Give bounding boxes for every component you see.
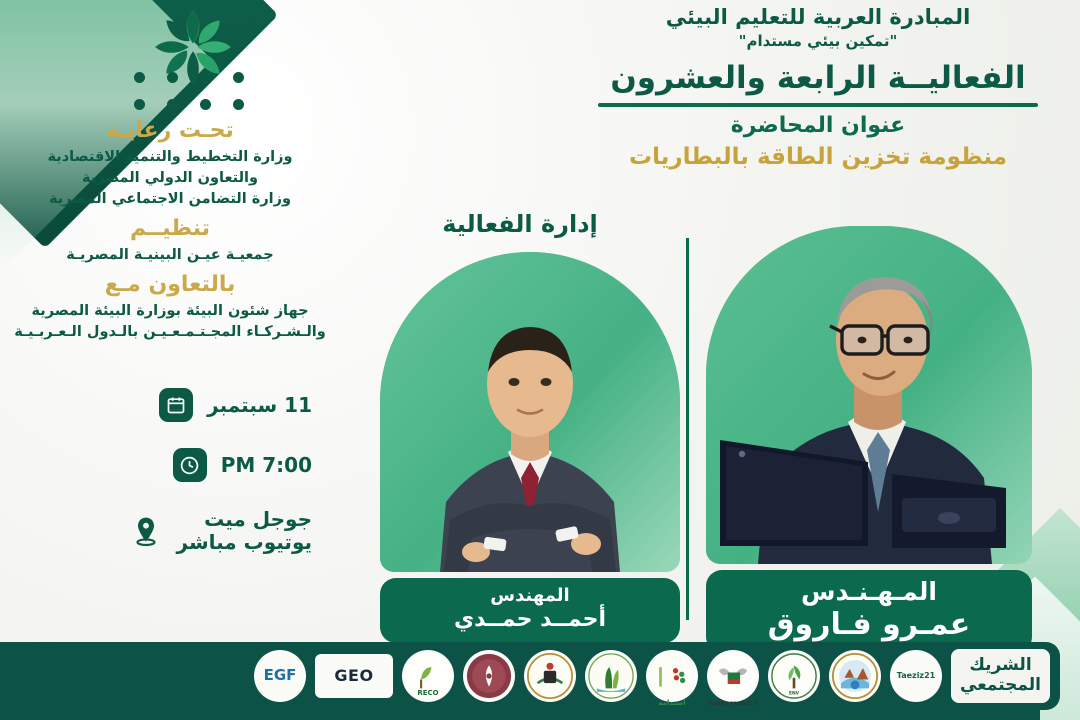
patronage-label: تحـت رعايـة	[0, 118, 340, 143]
speaker-left-title: المهندس	[390, 586, 670, 607]
partner-strip-base	[0, 710, 1040, 720]
taeziz21-logo[interactable]: Taeziz21	[890, 650, 942, 702]
cooperation-label: بالتعاون مـع	[0, 272, 340, 297]
speakers-divider	[686, 238, 689, 620]
sponsors-column: تحـت رعايـة وزارة التخطيط والتنمية الاقت…	[0, 112, 340, 343]
estidama-logo[interactable]: استدامة	[646, 650, 698, 702]
event-poster: المبادرة العربية للتعليم البيئي "تمكين ب…	[0, 0, 1080, 720]
speaker-nameplate-left: المهندس أحمــد حمــدي	[380, 578, 680, 643]
event-number-title: الفعاليــة الرابعة والعشرون	[568, 60, 1068, 96]
environment-badge-logo[interactable]	[829, 650, 881, 702]
location-line-2: يوتيوب مباشر	[177, 530, 313, 554]
geo-logo-text: GEO	[334, 668, 373, 685]
svg-text:ENV: ENV	[789, 691, 800, 697]
organizer-label: تنظيــم	[0, 216, 340, 241]
location-pin-icon	[129, 514, 163, 548]
location-line-1: جوجل ميت	[204, 507, 312, 531]
reco-logo-text: RECO	[417, 690, 438, 697]
speaker-nameplate-right: المـهـنـدس عمـرو فـاروق	[706, 570, 1032, 653]
cooperation-line-2: والـشـركـاء المجـتـمـعـيـن بالـدول الـعـ…	[0, 322, 340, 343]
reco-logo[interactable]: RECO	[402, 650, 454, 702]
taeziz21-logo-text: Taeziz21	[897, 672, 935, 680]
lecture-label: عنوان المحاضرة	[568, 113, 1068, 138]
patronage-line-2: والتعاون الدولي المصرية	[0, 168, 340, 189]
arab-society-emblem-logo[interactable]	[524, 650, 576, 702]
speaker-right-title: المـهـنـدس	[716, 578, 1022, 607]
initiative-title: المبادرة العربية للتعليم البيئي	[568, 4, 1068, 30]
geo-logo[interactable]: GEO	[315, 654, 393, 698]
patronage-line-3: وزارة التضامن الاجتماعي المصرية	[0, 189, 340, 210]
community-partner-label: الشريك المجتمعي	[951, 649, 1050, 702]
patronage-line-1: وزارة التخطيط والتنمية الاقتصادية	[0, 147, 340, 168]
egf-logo[interactable]: EGF	[254, 650, 306, 702]
green-hands-logo[interactable]	[585, 650, 637, 702]
initiative-slogan: "تمكين بيئي مستدام"	[568, 32, 1068, 50]
organizer-line-1: جمعيـة عيـن البينيـة المصريـة	[0, 245, 340, 266]
egf-logo-text: EGF	[264, 668, 297, 684]
speaker-photo-amr-farouk	[706, 226, 1032, 564]
event-time-text: 7:00 PM	[221, 454, 312, 477]
event-info-list: 11 سبتمبر 7:00 PM جوجل ميت يوتيوب مباشر	[12, 388, 312, 580]
event-date-row: 11 سبتمبر	[12, 388, 312, 422]
event-location-text: جوجل ميت يوتيوب مباشر	[177, 508, 313, 554]
community-partner-label-line-1: الشريك	[960, 656, 1041, 676]
header-divider	[598, 103, 1038, 107]
clock-icon	[173, 448, 207, 482]
speaker-card-left: المهندس أحمــد حمــدي	[380, 252, 680, 643]
pen-nib-emblem-logo[interactable]	[463, 650, 515, 702]
event-management-label: إدارة الفعالية	[420, 210, 620, 238]
calendar-icon	[159, 388, 193, 422]
lecture-title: منظومة تخزين الطاقة بالبطاريات	[568, 144, 1068, 170]
speaker-left-name: أحمــد حمــدي	[390, 607, 670, 633]
speaker-photo-ahmed-hamdy	[380, 252, 680, 572]
plant-and-protect-it-logo[interactable]: PLANT & PROTECT IT	[707, 650, 759, 702]
speaker-right-name: عمـرو فـاروق	[716, 607, 1022, 643]
poster-header: المبادرة العربية للتعليم البيئي "تمكين ب…	[568, 4, 1068, 170]
cooperation-line-1: جهاز شئون البيئة بوزارة البيئة المصرية	[0, 301, 340, 322]
community-partner-label-line-2: المجتمعي	[960, 676, 1041, 696]
estidama-logo-text: استدامة	[658, 700, 685, 702]
event-date-text: 11 سبتمبر	[207, 394, 312, 417]
event-time-row: 7:00 PM	[12, 448, 312, 482]
event-location-row: جوجل ميت يوتيوب مباشر	[12, 508, 312, 554]
tree-emblem-logo[interactable]: ENV	[768, 650, 820, 702]
partner-strip: الشريك المجتمعي Taeziz21 ENV	[0, 642, 1060, 710]
speaker-card-right: المـهـنـدس عمـرو فـاروق	[706, 226, 1032, 653]
